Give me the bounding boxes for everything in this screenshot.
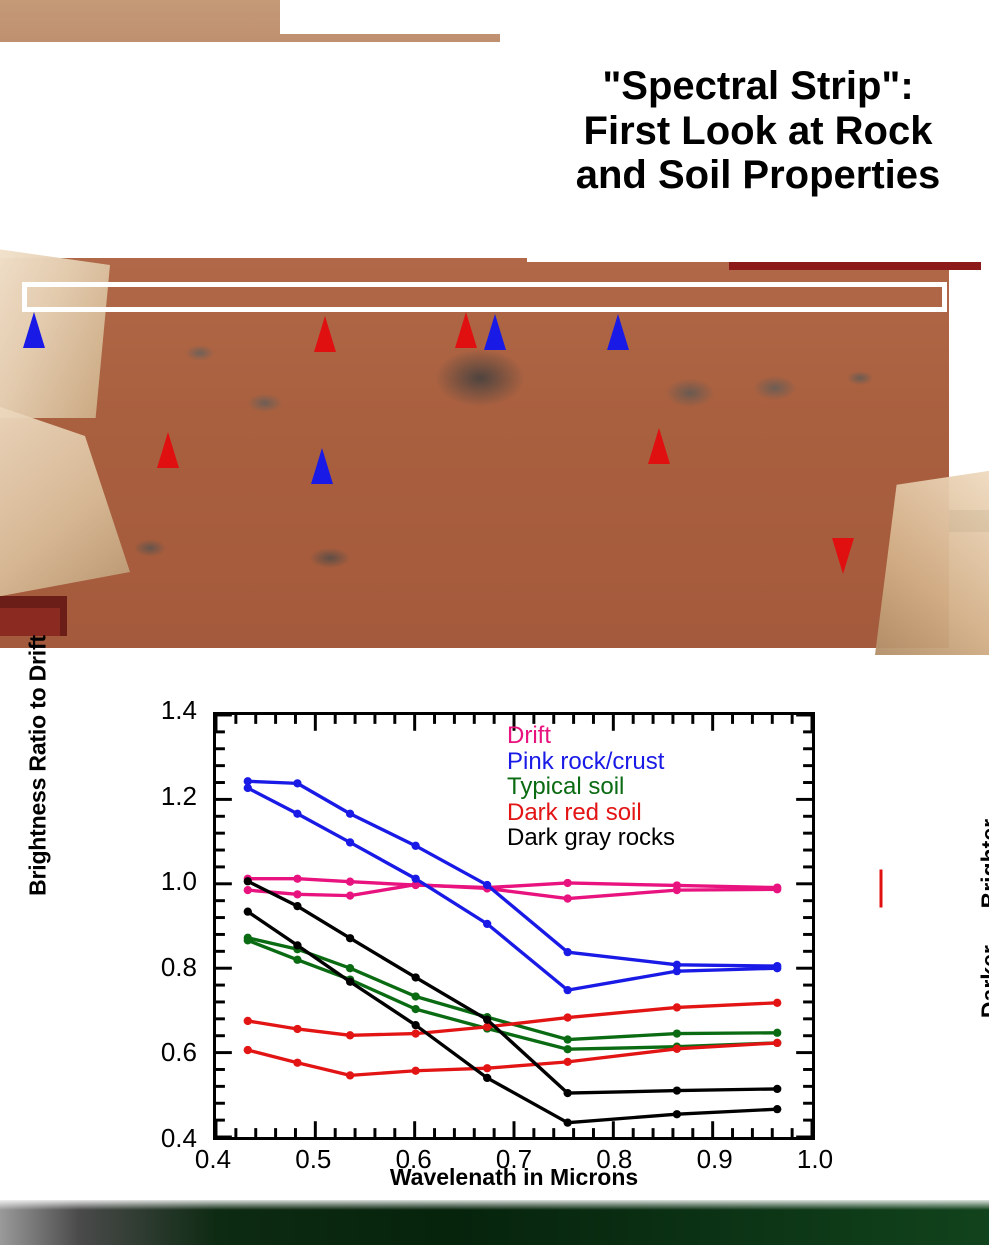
data-point xyxy=(244,936,252,944)
data-point xyxy=(773,1029,781,1037)
blue-arrow-1 xyxy=(23,312,45,348)
data-point xyxy=(773,1039,781,1047)
data-point xyxy=(563,1058,571,1066)
spectral-chart: Brightness Ratio to Drift Wavelenath in … xyxy=(0,660,989,1200)
data-point xyxy=(412,973,420,981)
x-tick-0.8: 0.8 xyxy=(579,1144,649,1175)
data-point xyxy=(673,1086,681,1094)
data-point xyxy=(293,956,301,964)
data-point xyxy=(346,878,354,886)
x-tick-0.4: 0.4 xyxy=(178,1144,248,1175)
chart-legend: DriftPink rock/crustTypical soilDark red… xyxy=(507,723,675,851)
data-point xyxy=(244,1017,252,1025)
data-point xyxy=(346,934,354,942)
title-line-1: First Look at Rock xyxy=(584,109,933,153)
data-point xyxy=(346,810,354,818)
slide-footer-bar xyxy=(0,1200,989,1245)
data-point xyxy=(673,1045,681,1053)
legend-item-drift: Drift xyxy=(507,723,675,749)
mars-terrain-upper xyxy=(0,34,509,264)
data-point xyxy=(293,890,301,898)
data-point xyxy=(673,886,681,894)
data-point xyxy=(773,964,781,972)
blue-arrow-4 xyxy=(311,448,333,484)
data-point xyxy=(773,885,781,893)
red-arrow-1 xyxy=(314,316,336,352)
data-point xyxy=(773,999,781,1007)
data-point xyxy=(483,1064,491,1072)
data-point xyxy=(244,784,252,792)
footer-fade xyxy=(0,1200,989,1210)
series-line-drift-0 xyxy=(248,879,777,888)
data-point xyxy=(346,978,354,986)
data-point xyxy=(412,875,420,883)
legend-item-dark-red-soil: Dark red soil xyxy=(507,800,675,826)
data-point xyxy=(244,877,252,885)
data-point xyxy=(563,1045,571,1053)
page-title: "Spectral Strip":First Look at Rockand S… xyxy=(576,64,941,198)
red-arrow-5 xyxy=(832,538,854,574)
data-point xyxy=(346,838,354,846)
data-point xyxy=(412,1067,420,1075)
data-point xyxy=(563,894,571,902)
data-point xyxy=(412,992,420,1000)
brightness-axis-note: Darker Brighter xyxy=(977,769,989,1069)
darker-label: Darker xyxy=(977,945,989,1018)
red-arrow-2 xyxy=(455,312,477,348)
data-point xyxy=(673,1003,681,1011)
data-point xyxy=(773,1105,781,1113)
title-line-0: "Spectral Strip": xyxy=(602,64,913,108)
data-point xyxy=(483,881,491,889)
data-point xyxy=(412,842,420,850)
y-tick-0.6: 0.6 xyxy=(127,1037,197,1068)
data-point xyxy=(773,1085,781,1093)
legend-item-pink-rock-crust: Pink rock/crust xyxy=(507,749,675,775)
data-point xyxy=(563,1119,571,1127)
title-line-2: and Soil Properties xyxy=(576,153,941,197)
x-tick-0.9: 0.9 xyxy=(680,1144,750,1175)
lander-airbag-left xyxy=(0,248,110,418)
data-point xyxy=(563,1089,571,1097)
data-point xyxy=(293,1025,301,1033)
data-point xyxy=(563,1013,571,1021)
data-point xyxy=(673,967,681,975)
data-point xyxy=(563,879,571,887)
title-block: "Spectral Strip":First Look at Rockand S… xyxy=(527,0,989,262)
dark-red-band xyxy=(729,262,981,270)
red-arrow-3 xyxy=(157,432,179,468)
spectral-strip-outline xyxy=(22,282,947,312)
y-axis-label: Brightness Ratio to Drift xyxy=(25,586,52,946)
data-point xyxy=(293,1059,301,1067)
brightness-separator-line xyxy=(880,870,883,908)
data-point xyxy=(293,810,301,818)
data-point xyxy=(293,902,301,910)
data-point xyxy=(412,1029,420,1037)
y-tick-1.2: 1.2 xyxy=(127,781,197,812)
series-line-dark-red-soil-1 xyxy=(248,1043,777,1075)
data-point xyxy=(563,948,571,956)
data-point xyxy=(346,1031,354,1039)
red-arrow-4 xyxy=(648,428,670,464)
data-point xyxy=(563,986,571,994)
x-tick-0.7: 0.7 xyxy=(479,1144,549,1175)
blue-arrow-3 xyxy=(607,314,629,350)
y-tick-1.4: 1.4 xyxy=(127,695,197,726)
data-point xyxy=(412,1021,420,1029)
blue-arrow-2 xyxy=(484,314,506,350)
x-tick-1.0: 1.0 xyxy=(780,1144,850,1175)
y-tick-1.0: 1.0 xyxy=(127,866,197,897)
data-point xyxy=(293,941,301,949)
brighter-label: Brighter xyxy=(977,819,989,908)
data-point xyxy=(346,964,354,972)
y-tick-0.8: 0.8 xyxy=(127,952,197,983)
x-tick-0.5: 0.5 xyxy=(278,1144,348,1175)
data-point xyxy=(244,886,252,894)
data-point xyxy=(346,1071,354,1079)
series-line-dark-red-soil-0 xyxy=(248,1003,777,1035)
photo-white-gap-top xyxy=(280,0,510,34)
data-point xyxy=(483,1016,491,1024)
x-tick-0.6: 0.6 xyxy=(379,1144,449,1175)
data-point xyxy=(244,1046,252,1054)
data-point xyxy=(293,779,301,787)
legend-item-typical-soil: Typical soil xyxy=(507,774,675,800)
data-point xyxy=(412,1005,420,1013)
data-point xyxy=(563,1035,571,1043)
data-point xyxy=(483,920,491,928)
series-line-dark-gray-rocks-0 xyxy=(248,881,777,1093)
data-point xyxy=(673,1110,681,1118)
data-point xyxy=(293,875,301,883)
data-point xyxy=(673,1029,681,1037)
legend-item-dark-gray-rocks: Dark gray rocks xyxy=(507,825,675,851)
data-point xyxy=(346,891,354,899)
data-point xyxy=(483,1074,491,1082)
data-point xyxy=(244,908,252,916)
